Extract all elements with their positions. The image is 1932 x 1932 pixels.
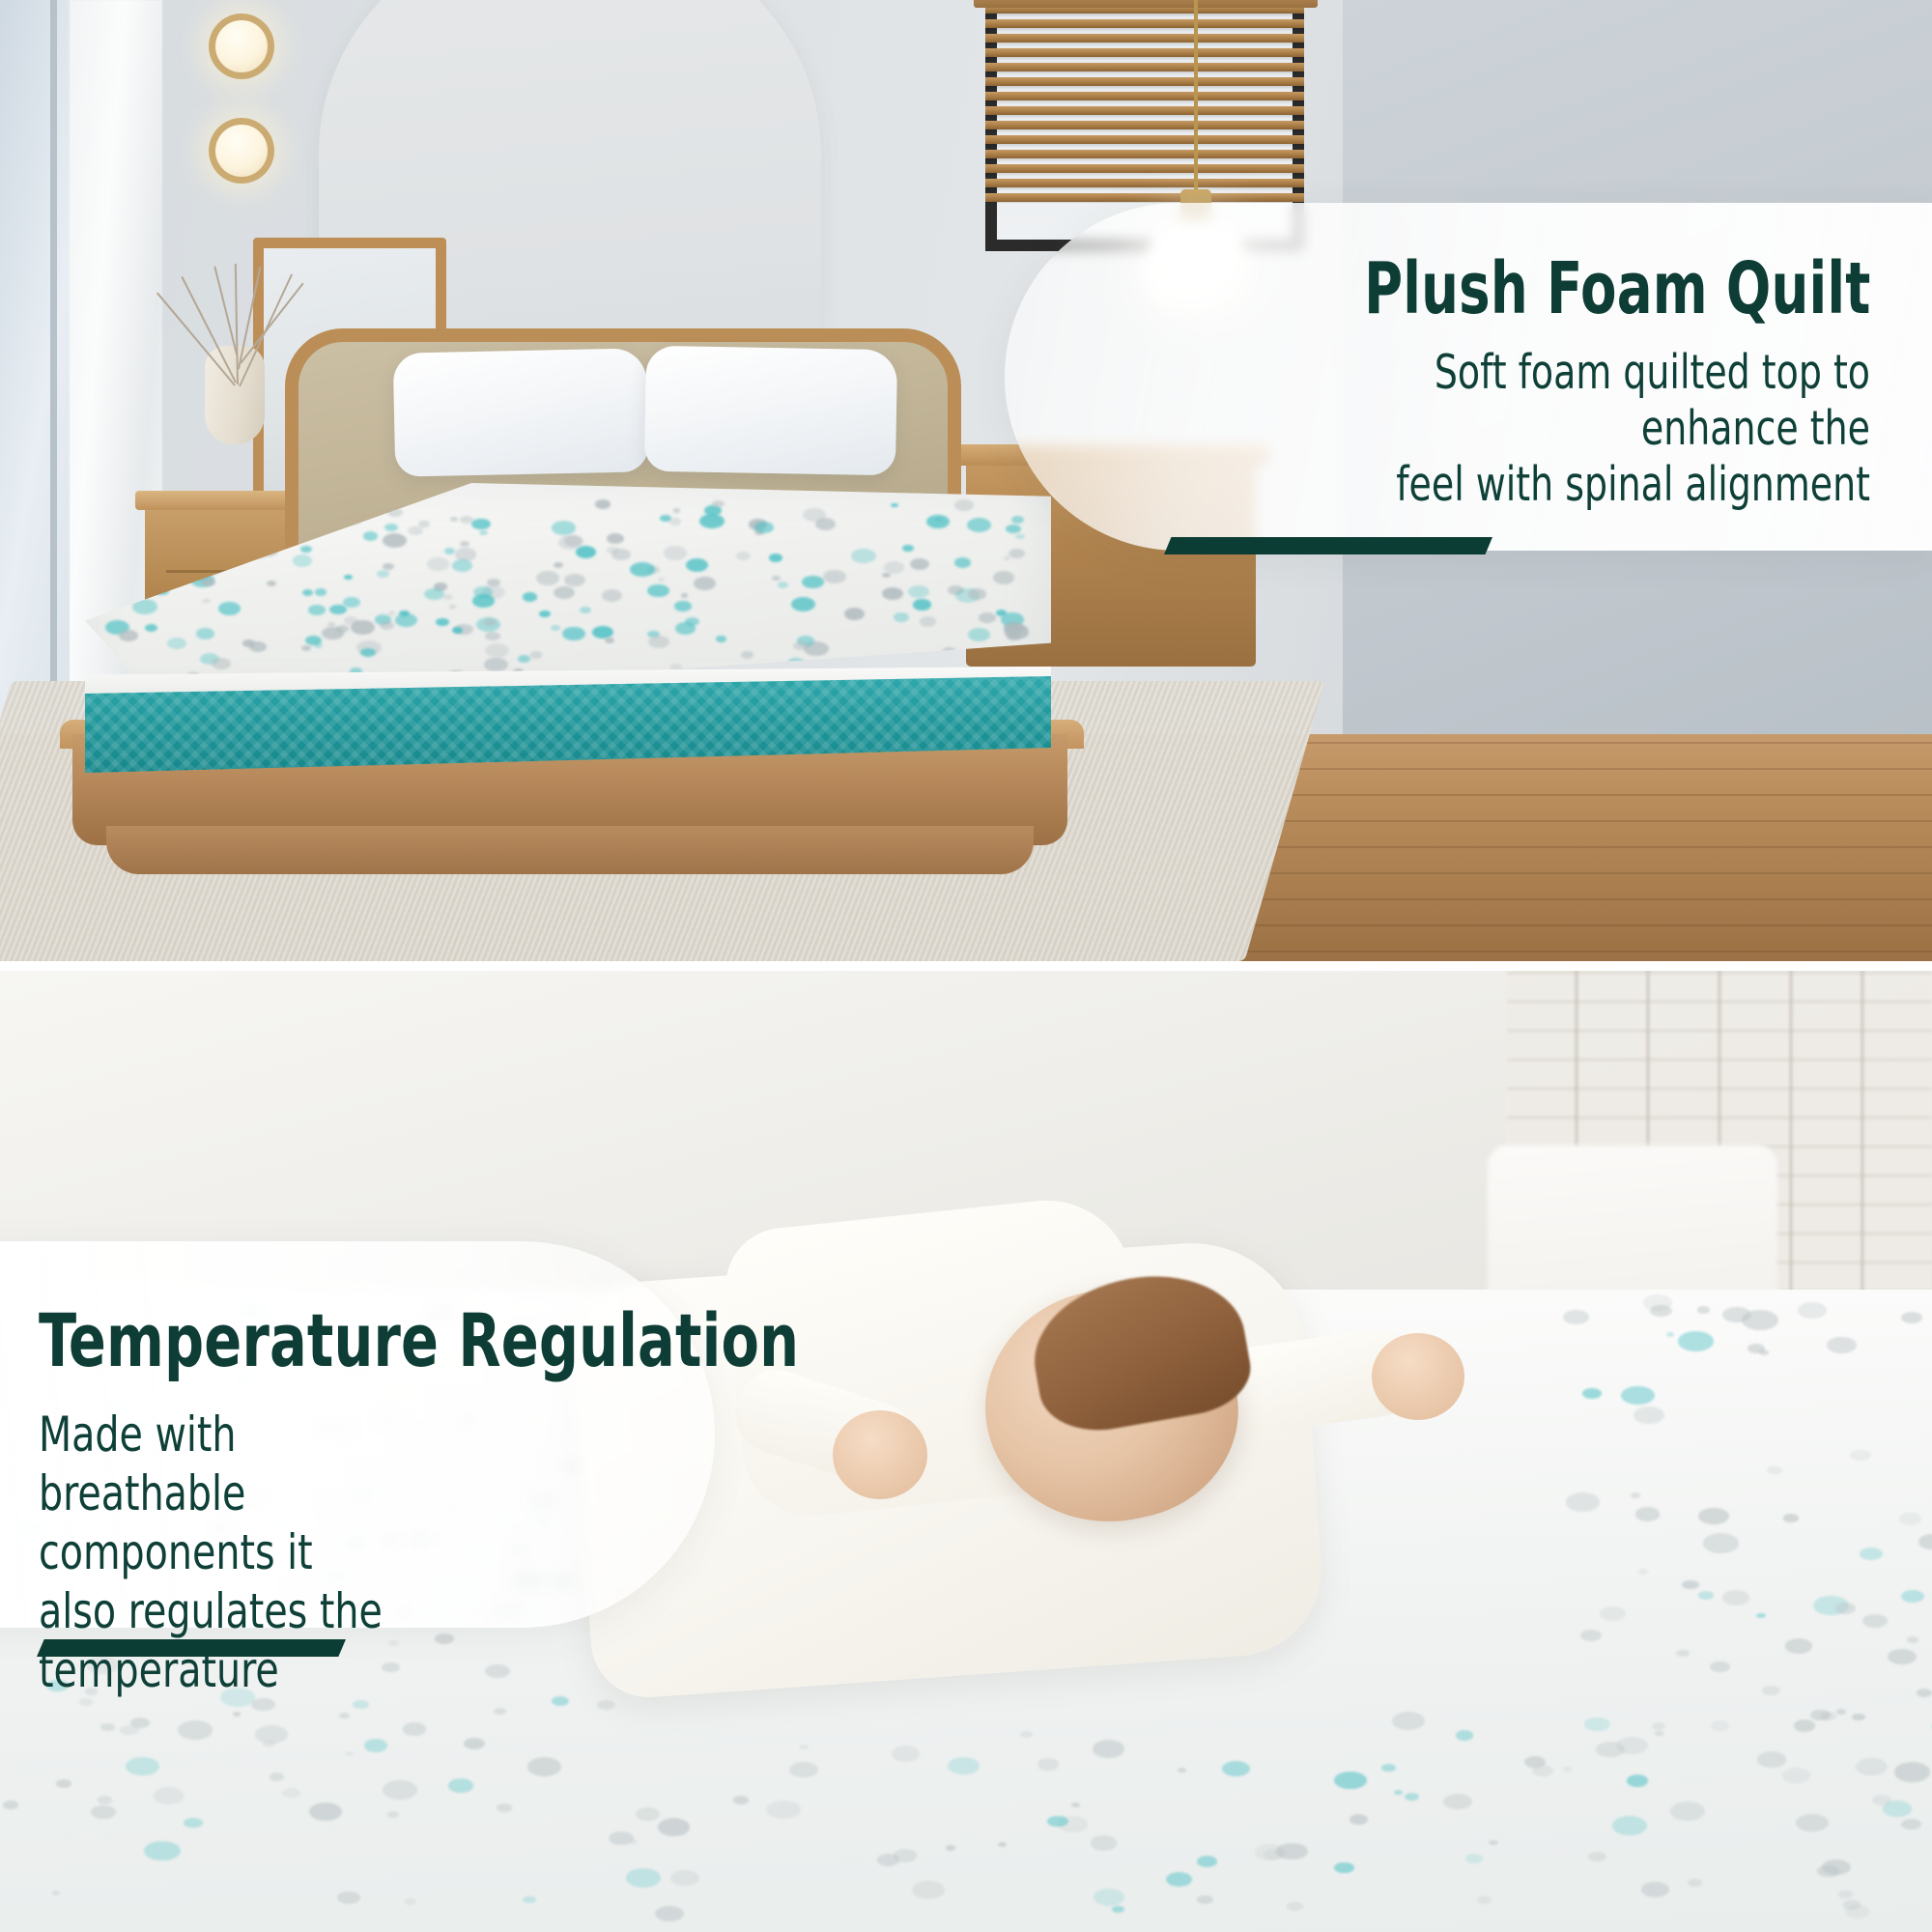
bed-frame-plinth: [106, 826, 1034, 874]
pillow-left: [393, 348, 649, 476]
callout-1-body-line2: feel with spinal alignment: [1396, 457, 1870, 512]
blinds-valance: [974, 0, 1318, 8]
callout-2-accent-bar: [37, 1639, 346, 1657]
window-mullion: [50, 0, 57, 792]
callout-1-title: Plush Foam Quilt: [1364, 253, 1870, 326]
callout-2-body-line1: Made with breathable components it: [39, 1406, 313, 1580]
pendant-lamp-cord: [1194, 0, 1198, 193]
wall-sconce-lower-icon: [209, 118, 274, 184]
callout-1-body-line1: Soft foam quilted top to enhance the: [1435, 345, 1870, 456]
callout-card-temperature-regulation: Temperature Regulation Made with breatha…: [0, 1241, 715, 1628]
callout-1-body: Soft foam quilted top to enhance thefeel…: [1309, 345, 1870, 512]
callout-2-title: Temperature Regulation: [39, 1303, 799, 1378]
baby-hand-left: [833, 1410, 927, 1499]
wall-sconce-upper-icon: [209, 14, 274, 79]
window-blinds: [985, 0, 1304, 203]
pillow-right: [644, 346, 897, 476]
baby-hand-right: [1372, 1333, 1464, 1420]
infographic-stage: Plush Foam Quilt Soft foam quilted top t…: [0, 0, 1932, 1932]
callout-1-accent-bar: [1164, 537, 1492, 554]
panel-divider: [0, 961, 1932, 971]
callout-card-plush-foam-quilt: Plush Foam Quilt Soft foam quilted top t…: [1005, 203, 1932, 551]
